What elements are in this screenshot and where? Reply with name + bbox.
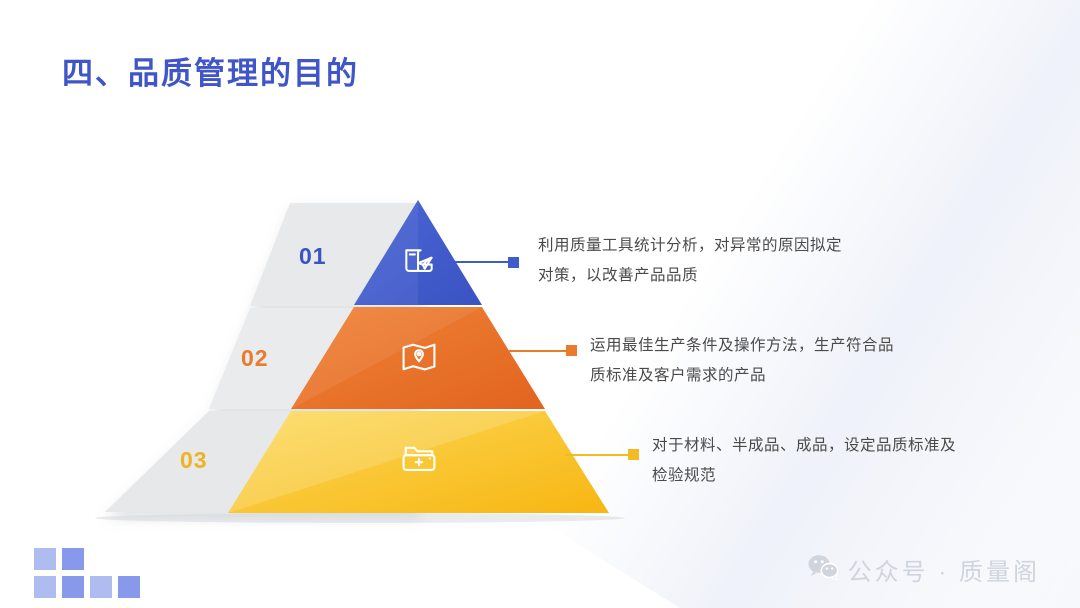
callout-leader-line-2 <box>508 350 568 352</box>
wechat-icon <box>808 554 838 585</box>
watermark: 公众号 · 质量阁 <box>808 552 1040 587</box>
map-pin-icon <box>398 336 440 383</box>
callout-text-2-line1: 运用最佳生产条件及操作方法，生产符合品 <box>590 331 894 361</box>
pyramid-layer-number-3: 03 <box>180 447 208 474</box>
callout-marker-1 <box>508 257 519 268</box>
decorative-block-empty <box>118 548 140 570</box>
decorative-block <box>34 548 56 570</box>
callout-leader-line-1 <box>455 261 510 263</box>
pyramid-layer-number-2: 02 <box>241 345 269 372</box>
decorative-block <box>34 576 56 598</box>
callout-text-3-line2: 检验规范 <box>652 461 956 491</box>
decorative-block-empty <box>90 548 112 570</box>
callout-leader-line-3 <box>565 454 630 456</box>
callout-text-2: 运用最佳生产条件及操作方法，生产符合品 质标准及客户需求的产品 <box>590 331 894 391</box>
slide-canvas: 四、品质管理的目的 <box>0 0 1080 608</box>
watermark-text: 公众号 · 质量阁 <box>848 552 1040 587</box>
callout-text-3: 对于材料、半成品、成品，设定品质标准及 检验规范 <box>652 431 956 491</box>
decorative-block <box>118 576 140 598</box>
pyramid-layer-number-1: 01 <box>299 243 327 270</box>
callout-text-1: 利用质量工具统计分析，对异常的原因拟定 对策，以改善产品品质 <box>538 231 842 291</box>
folder-plus-icon <box>398 437 440 484</box>
pyramid-diagram: 01 02 03 <box>0 0 1080 608</box>
callout-text-1-line1: 利用质量工具统计分析，对异常的原因拟定 <box>538 231 842 261</box>
callout-text-1-line2: 对策，以改善产品品质 <box>538 261 842 291</box>
callout-marker-3 <box>628 449 639 460</box>
callout-text-2-line2: 质标准及客户需求的产品 <box>590 361 894 391</box>
decorative-block <box>90 576 112 598</box>
callout-marker-2 <box>566 345 577 356</box>
decorative-block <box>62 548 84 570</box>
decorative-block <box>62 576 84 598</box>
callout-text-3-line1: 对于材料、半成品、成品，设定品质标准及 <box>652 431 956 461</box>
decorative-blocks <box>34 548 140 598</box>
scroll-send-icon <box>400 244 438 287</box>
